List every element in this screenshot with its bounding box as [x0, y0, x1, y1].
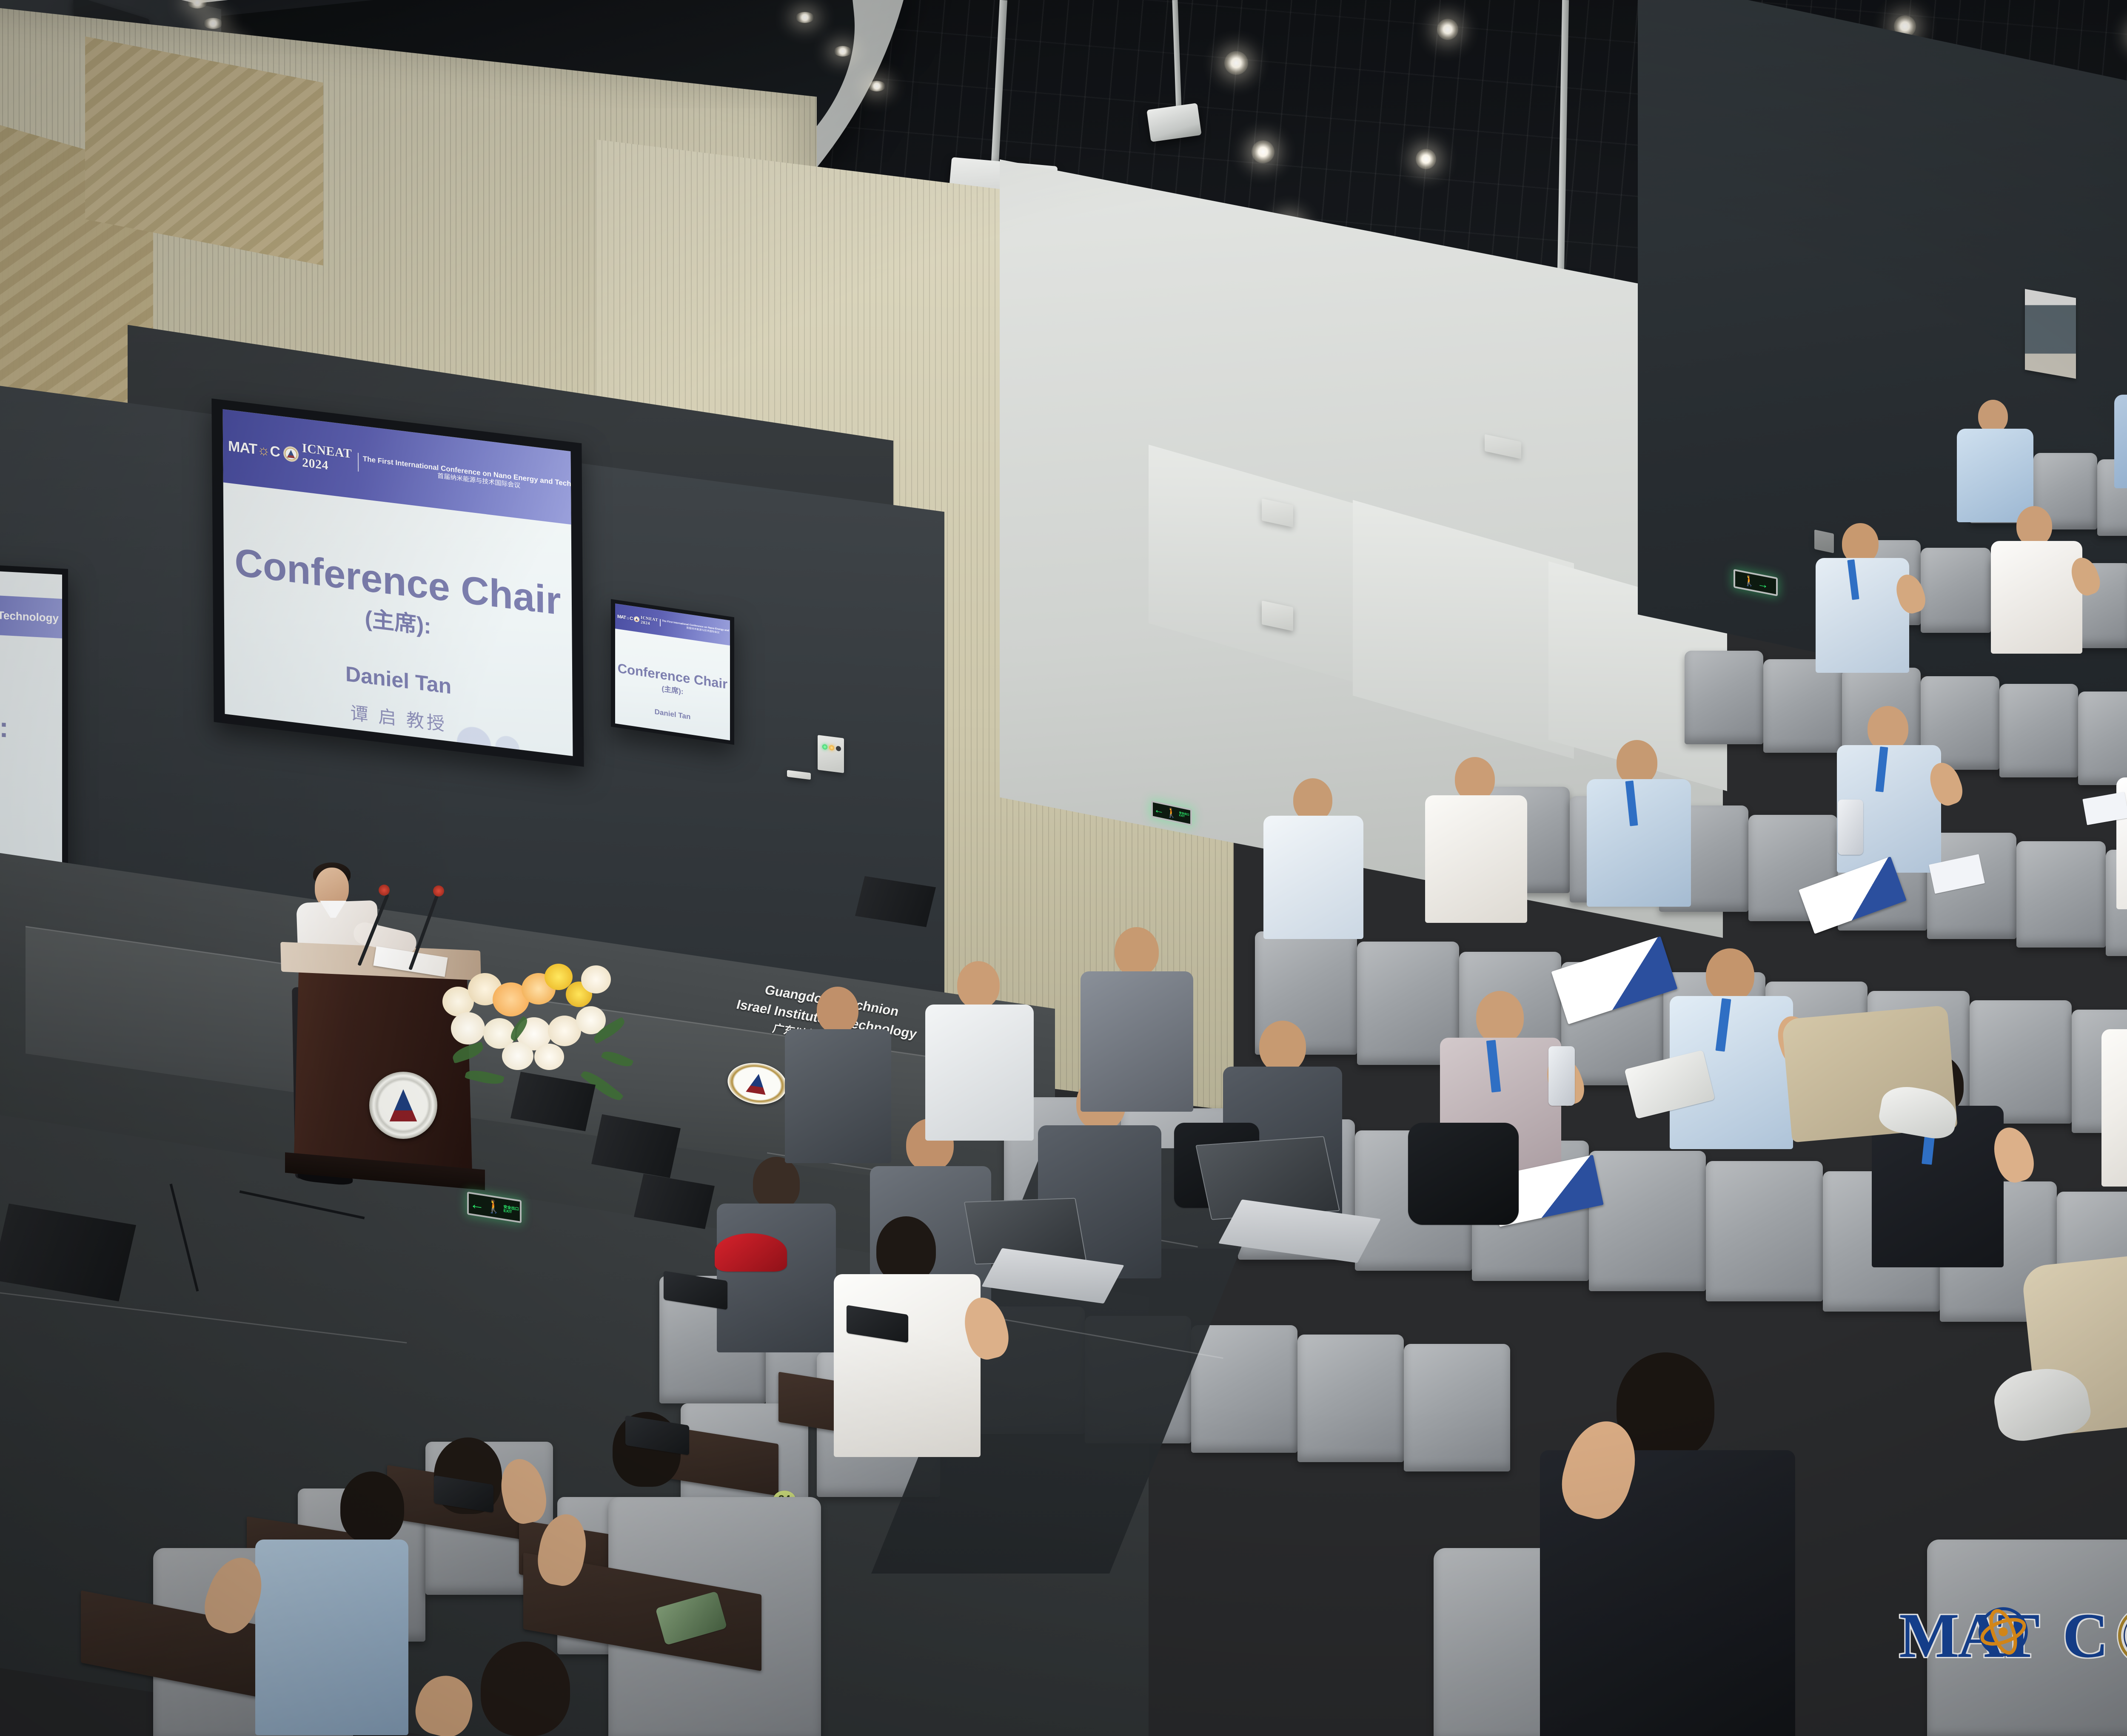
person-head [340, 1471, 404, 1543]
edge-slide-header-band: ergy and Technology [0, 593, 62, 638]
matoc-wordmark-tail: C [270, 443, 280, 461]
matoc-watermark-tail: C [2062, 1600, 2107, 1671]
person-head [1617, 740, 1657, 785]
ceiling-downlight [1437, 19, 1458, 40]
side-slide-speaker-name: Daniel Tan [615, 702, 730, 727]
person-body [834, 1274, 981, 1457]
microphone-head [433, 885, 444, 896]
conference-watermark: MAToC GUANGDONG TECHNION ISRAEL INSTITUT… [1899, 1599, 2127, 1672]
person-head [1115, 927, 1159, 976]
status-led-amber [829, 745, 834, 751]
person-head [2016, 506, 2052, 546]
ceiling-downlight [1224, 51, 1248, 75]
person-head [1868, 706, 1908, 751]
person-head [876, 1216, 936, 1283]
exit-sign-label: 安全出口 EXIT [504, 1205, 519, 1215]
exit-arrow-icon: ← [470, 1196, 484, 1213]
person-head [753, 1157, 800, 1209]
person-body [2114, 395, 2127, 488]
ceiling-downlight [203, 18, 223, 29]
exit-label-en: EXIT [504, 1208, 512, 1214]
person-body [925, 1005, 1034, 1141]
main-projection-screen: MAT☼C ICNEAT 2024 The First Internationa… [211, 398, 584, 767]
ceiling-downlight [868, 81, 886, 91]
backpack [1408, 1123, 1519, 1225]
ceiling-downlight [1252, 140, 1274, 163]
atom-icon [1978, 1607, 2028, 1657]
matoc-logo-watermark: MAToC [1899, 1599, 2107, 1672]
running-person-icon: 🚶 [1166, 807, 1177, 819]
person-body [1957, 429, 2033, 522]
side-slide-main-title: Conference Chair (主席): [615, 660, 730, 703]
wall-control-panel[interactable] [818, 735, 844, 773]
side-matoc-wordmark: MAT☼C [617, 614, 633, 621]
running-person-icon: 🚶 [486, 1200, 502, 1215]
person-head [1293, 778, 1332, 822]
slide-icneat-label: ICNEAT 2024 [302, 441, 352, 476]
flower-blossom [581, 965, 611, 993]
matoc-wordmark: MAT☼C [228, 438, 280, 461]
person-head [1978, 400, 2008, 433]
left-edge-projection-screen: ergy and Technology 主席): [0, 562, 68, 884]
side-technion-seal-icon [634, 616, 639, 623]
ceiling-downlight [795, 12, 814, 23]
person-head [1455, 757, 1495, 801]
person-head [817, 987, 858, 1033]
person-head [957, 961, 1000, 1009]
person-body [1587, 779, 1691, 907]
person-body [1081, 971, 1193, 1112]
status-led-green [822, 744, 827, 750]
person-body [255, 1540, 408, 1735]
person-body [785, 1029, 891, 1163]
conference-auditorium-photo: MAT☼C ICNEAT 2024 The First Internationa… [0, 0, 2127, 1736]
red-cap [715, 1233, 787, 1272]
podium-technion-seal [369, 1072, 437, 1139]
rear-wall-poster [2025, 289, 2076, 379]
ceiling-downlight [834, 46, 852, 57]
edge-band-text: ergy and Technology [0, 606, 59, 625]
side-slide-title-zh: (主席): [662, 684, 684, 696]
seal-text-ring: GUANGDONG TECHNION ISRAEL INSTITUTE OF T… [2121, 1610, 2127, 1662]
edge-slide-title-zh: 主席): [0, 701, 9, 746]
technion-seal-icon [283, 445, 299, 462]
exit-sign-label: 安全出口 EXIT [1179, 812, 1189, 819]
slide-title-zh: (主席): [365, 606, 431, 639]
slide-brand-group: MAT☼C ICNEAT 2024 [228, 432, 352, 476]
side-slide-surface: MAT☼C ICNEAT 2024 The First Internationa… [615, 603, 730, 740]
matoc-wordmark-head: MAT [228, 438, 257, 458]
microphone-head [379, 885, 390, 896]
water-bottle[interactable] [1548, 1046, 1575, 1106]
status-led-off [836, 746, 841, 751]
side-slide-icneat-label: ICNEAT 2024 [641, 615, 658, 627]
side-slide-brand-group: MAT☼C ICNEAT 2024 [617, 612, 658, 627]
leaf [591, 1017, 627, 1044]
person-body [1425, 795, 1527, 923]
person-body [1991, 541, 2082, 654]
ceiling-downlight [1416, 149, 1436, 169]
person-body [1816, 558, 1909, 673]
person-body [717, 1204, 836, 1352]
person-head [1259, 1021, 1306, 1073]
theater-seat[interactable] [1404, 1344, 1510, 1471]
person-body [2101, 1029, 2127, 1187]
side-projection-screen: MAT☼C ICNEAT 2024 The First Internationa… [611, 599, 734, 745]
leaf [465, 1067, 505, 1087]
water-bottle[interactable] [1838, 800, 1863, 855]
person-head [1706, 948, 1754, 1002]
leaf [601, 1048, 633, 1070]
exit-arrow-icon: ← [1154, 804, 1164, 817]
technion-seal-watermark: GUANGDONG TECHNION ISRAEL INSTITUTE OF T… [2118, 1607, 2127, 1665]
person-head [1476, 991, 1524, 1044]
edge-slide-surface: ergy and Technology 主席): [0, 569, 62, 877]
person-head [481, 1642, 570, 1736]
leaf [450, 1042, 485, 1064]
slide-conference-subtitle: The First International Conference on Na… [358, 452, 573, 501]
slide-main-title: Conference Chair (主席): [224, 538, 572, 657]
side-slide-conference-subtitle: The First International Conference on Na… [660, 619, 730, 639]
main-slide-surface: MAT☼C ICNEAT 2024 The First Internationa… [223, 409, 573, 756]
person-body [1263, 816, 1363, 939]
